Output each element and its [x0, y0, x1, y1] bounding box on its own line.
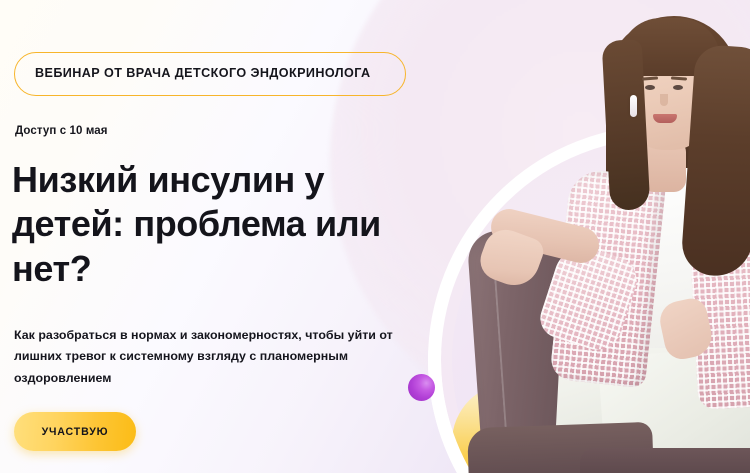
participate-button[interactable]: УЧАСТВУЮ [14, 412, 136, 451]
page-title: Низкий инсулин у детей: проблема или нет… [12, 158, 422, 291]
eye-right [673, 85, 683, 90]
banner-content: ВЕБИНАР ОТ ВРАЧА ДЕТСКОГО ЭНДОКРИНОЛОГА … [0, 0, 430, 473]
webinar-promo-banner: ВЕБИНАР ОТ ВРАЧА ДЕТСКОГО ЭНДОКРИНОЛОГА … [0, 0, 750, 473]
webinar-badge: ВЕБИНАР ОТ ВРАЧА ДЕТСКОГО ЭНДОКРИНОЛОГА [14, 52, 406, 96]
subject-photo [430, 0, 750, 473]
earring [630, 95, 637, 117]
mouth [653, 114, 677, 123]
armchair-seat [580, 448, 750, 473]
banner-subcopy: Как разобраться в нормах и закономерност… [14, 325, 414, 389]
eye-left [645, 85, 655, 90]
nose [660, 94, 668, 106]
access-date-note: Доступ с 10 мая [15, 125, 108, 137]
